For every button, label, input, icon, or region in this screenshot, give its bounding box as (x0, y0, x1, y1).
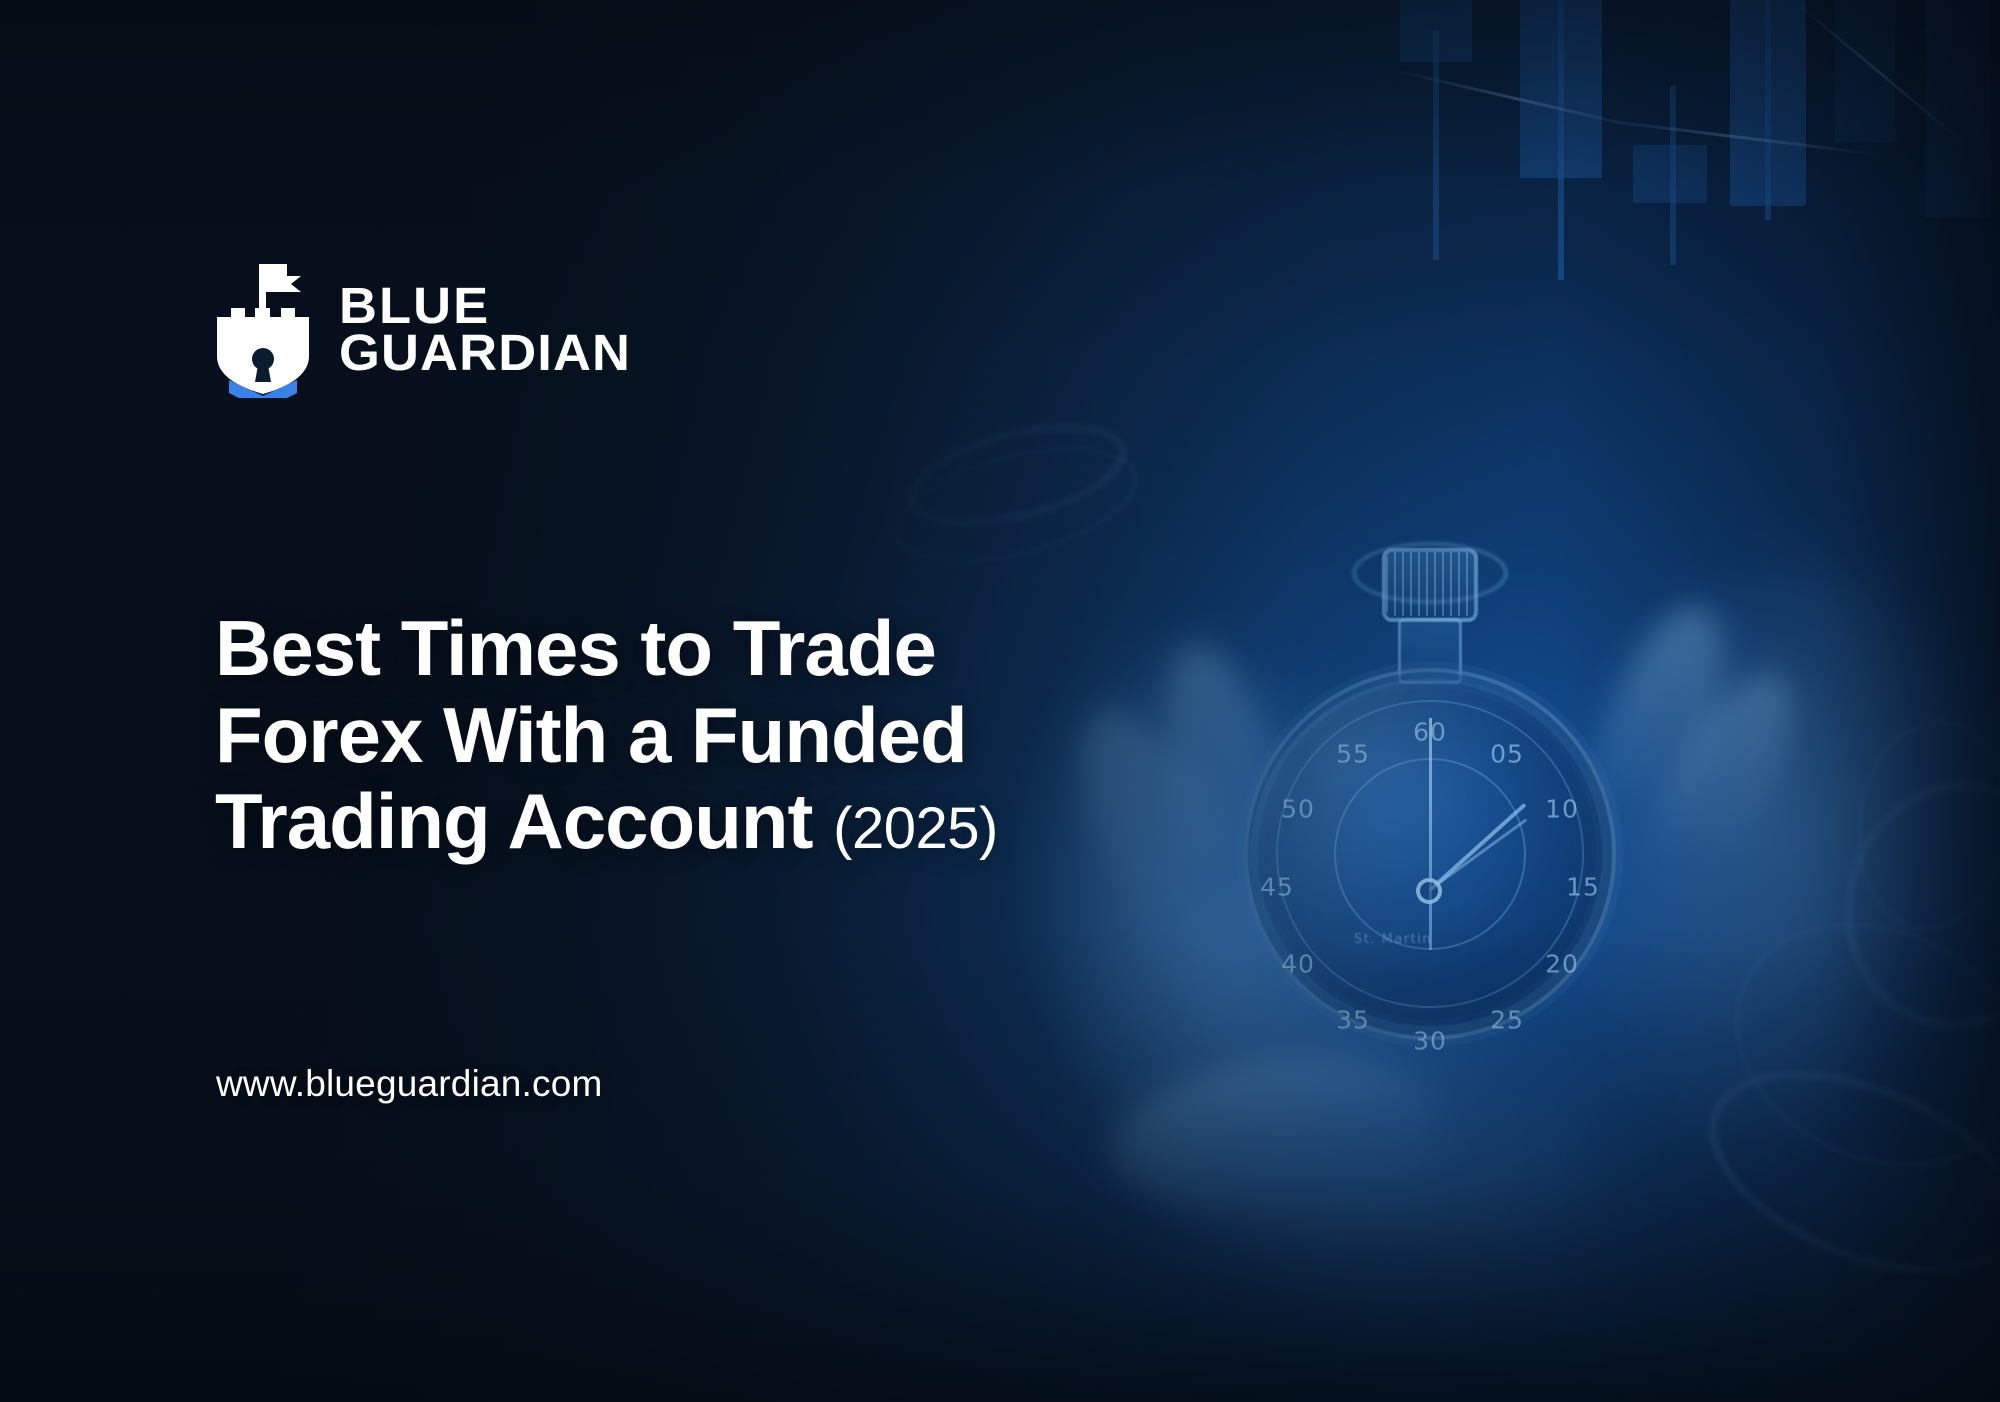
page-title: Best Times to Trade Forex With a Funded … (215, 605, 1195, 865)
brand-wordmark-line-2: GUARDIAN (339, 330, 631, 377)
castle-shield-keyhole-flag-icon (215, 262, 311, 398)
website-url[interactable]: www.blueguardian.com (216, 1063, 603, 1105)
headline-year: (2025) (833, 796, 998, 861)
headline-line-1: Best Times to Trade (215, 604, 936, 692)
brand-logo[interactable]: BLUE GUARDIAN (215, 262, 623, 398)
headline-line-3: Trading Account (215, 777, 833, 865)
headline-line-2: Forex With a Funded (215, 691, 967, 779)
blog-cover-banner: 60 05 10 15 20 25 30 35 40 45 50 55 St. … (0, 0, 2000, 1402)
brand-wordmark-line-1: BLUE (339, 283, 631, 330)
brand-wordmark: BLUE GUARDIAN (339, 283, 623, 377)
